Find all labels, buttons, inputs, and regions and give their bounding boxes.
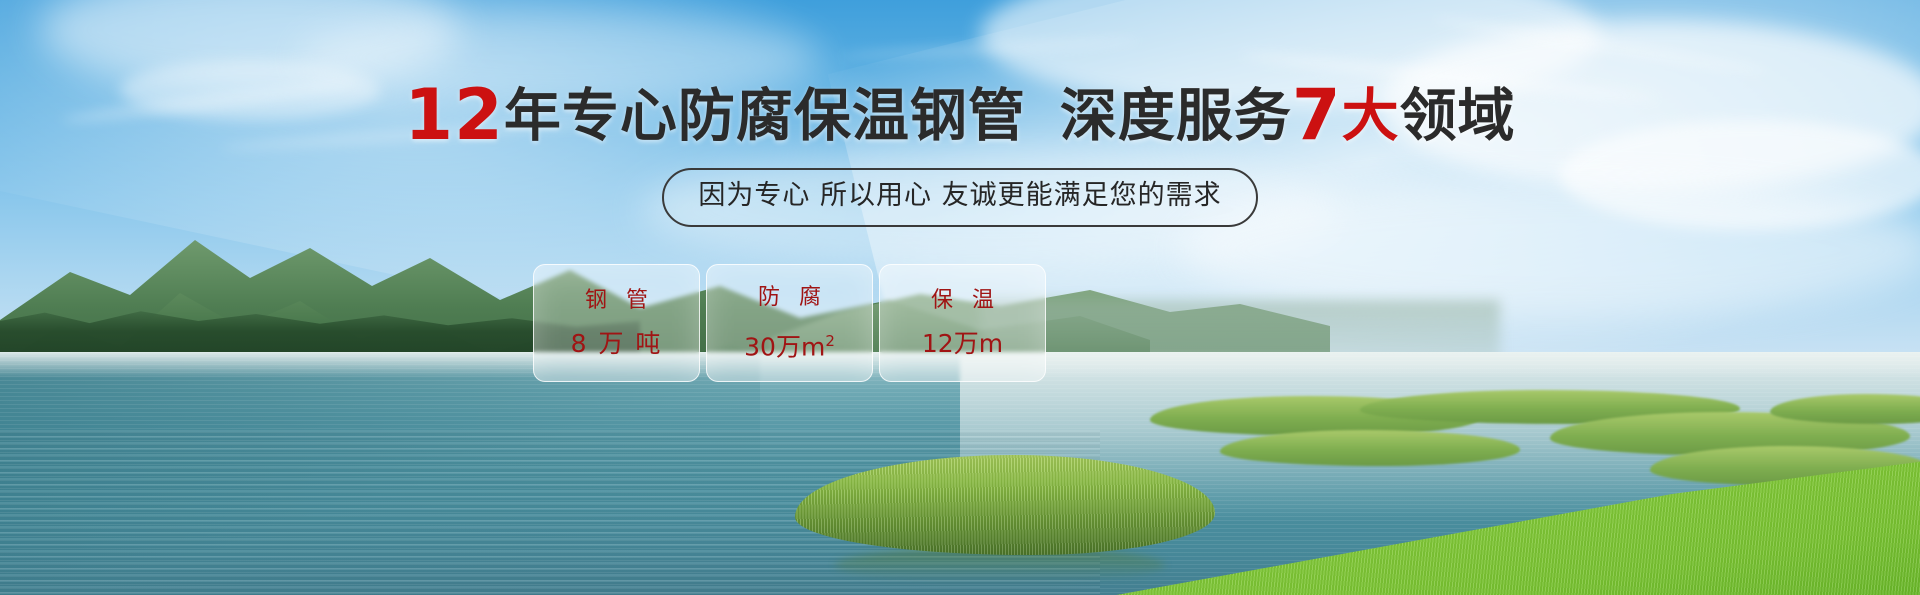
stat-card-steel-pipe[interactable]: 钢 管 8 万 吨 bbox=[533, 264, 700, 382]
stat-card-value-text: 8 万 吨 bbox=[571, 329, 663, 358]
headline-part1: 年专心防腐保温钢管 bbox=[504, 83, 1026, 149]
headline-part3: 大 bbox=[1342, 83, 1400, 149]
island-texture bbox=[795, 455, 1215, 555]
stat-card-value-superscript: 2 bbox=[825, 332, 835, 350]
stat-card-insulation[interactable]: 保 温 12万m bbox=[879, 264, 1046, 382]
hero-banner: 12年专心防腐保温钢管深度服务7大领域 因为专心 所以用心 友诚更能满足您的需求… bbox=[0, 0, 1920, 595]
stat-card-title: 防 腐 bbox=[752, 285, 827, 311]
subtitle-container: 因为专心 所以用心 友诚更能满足您的需求 bbox=[0, 168, 1920, 227]
stat-card-anticorrosion[interactable]: 防 腐 30万m2 bbox=[706, 264, 873, 382]
stat-card-value: 8 万 吨 bbox=[571, 330, 663, 358]
stat-cards: 钢 管 8 万 吨 防 腐 30万m2 保 温 12万m bbox=[533, 264, 1046, 382]
page-title: 12年专心防腐保温钢管深度服务7大领域 bbox=[0, 80, 1920, 151]
headline-part2: 深度服务 bbox=[1060, 83, 1292, 149]
stat-card-title: 保 温 bbox=[925, 288, 1000, 314]
headline-fields-number: 7 bbox=[1292, 74, 1342, 156]
stat-card-title: 钢 管 bbox=[579, 288, 654, 314]
headline-years-number: 12 bbox=[404, 74, 503, 156]
stat-card-value-text: 30万m bbox=[744, 332, 825, 361]
grass-island bbox=[795, 455, 1215, 580]
subtitle-pill: 因为专心 所以用心 友诚更能满足您的需求 bbox=[662, 168, 1257, 227]
stat-card-value: 12万m bbox=[922, 330, 1003, 358]
headline-part4: 领域 bbox=[1400, 83, 1516, 149]
stat-card-value-text: 12万m bbox=[922, 329, 1003, 358]
stat-card-value: 30万m2 bbox=[744, 327, 835, 361]
